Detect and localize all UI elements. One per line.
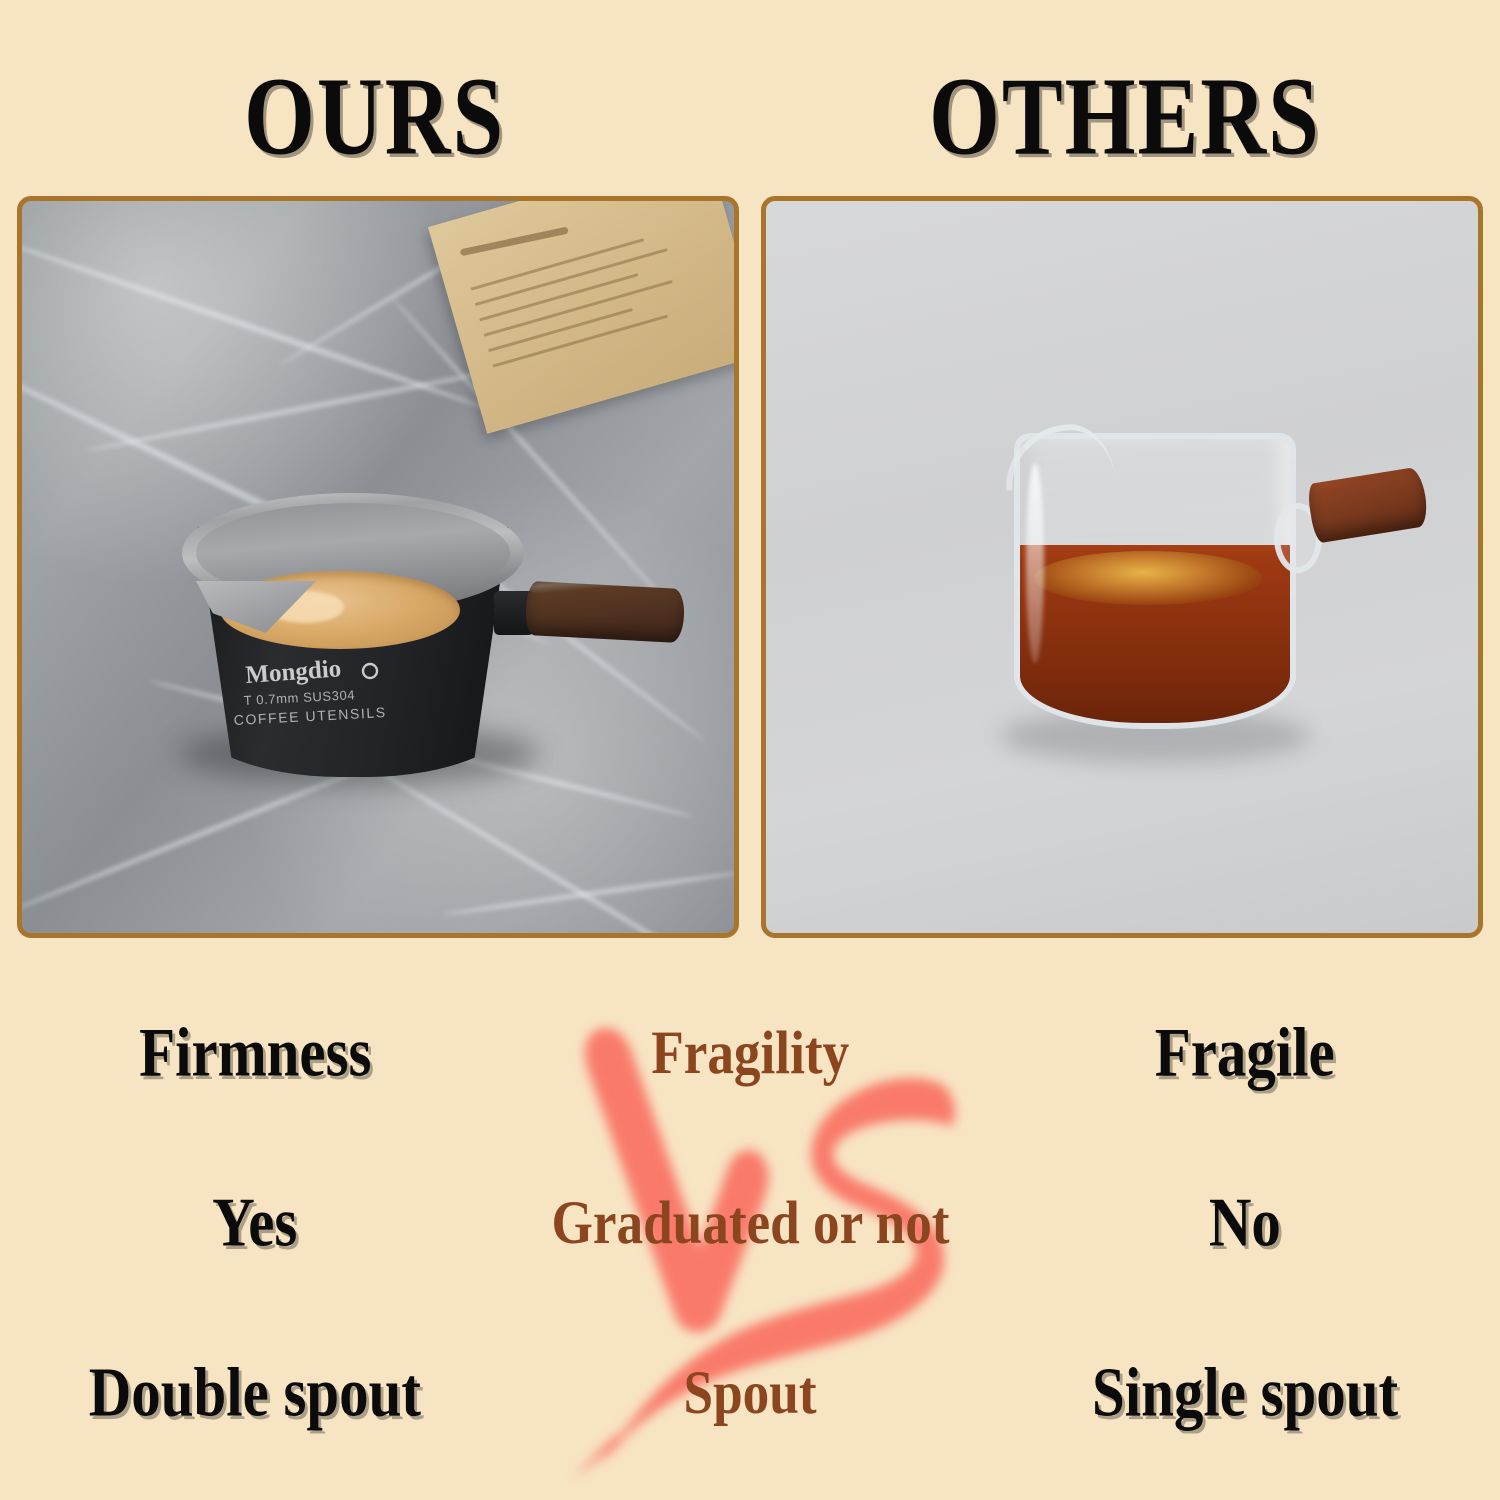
comparison-cell-ours: Double spout: [0, 1350, 510, 1436]
row-1-others-value: Fragile: [1155, 1018, 1335, 1087]
glass-highlight: [1026, 463, 1044, 663]
marble-vein: [443, 870, 739, 917]
comparison-cell-ours: Firmness: [0, 1010, 510, 1096]
row-3-others-value: Single spout: [1092, 1358, 1398, 1427]
row-2-ours-value: Yes: [212, 1188, 297, 1257]
comparison-cell-others: Single spout: [990, 1350, 1500, 1436]
kraft-card-script: [460, 227, 569, 257]
walnut-handle: [525, 581, 686, 643]
steel-espresso-cup: Mongdio T 0.7mm SUS304 COFFEE UTENSILS: [174, 473, 694, 803]
comparison-cell-attribute: Spout: [510, 1350, 990, 1436]
heading-col-ours: OURS: [0, 62, 750, 172]
marble-vein: [85, 366, 508, 453]
comparison-table: Firmness Fragility Fragile Yes Graduated…: [0, 990, 1500, 1500]
comparison-cell-attribute: Graduated or not: [510, 1180, 990, 1266]
heading-ours: OURS: [244, 62, 505, 173]
brand-name-text: Mongdio: [245, 655, 343, 689]
row-2-attribute-label: Graduated or not: [551, 1192, 949, 1254]
comparison-cell-ours: Yes: [0, 1180, 510, 1266]
row-3-ours-value: Double spout: [89, 1358, 421, 1427]
comparison-cell-others: Fragile: [990, 1010, 1500, 1096]
row-2-others-value: No: [1209, 1188, 1281, 1257]
row-3-attribute-label: Spout: [683, 1362, 816, 1424]
brand-mark-icon: [363, 664, 377, 678]
headings-row: OURS OTHERS: [0, 62, 1500, 172]
comparison-row: Double spout Spout Single spout: [0, 1350, 1500, 1436]
product-photo-ours: Mongdio T 0.7mm SUS304 COFFEE UTENSILS: [17, 196, 739, 938]
product-photo-others: [761, 196, 1483, 938]
row-1-ours-value: Firmness: [139, 1018, 371, 1087]
comparison-cell-others: No: [990, 1180, 1500, 1266]
wooden-handle: [1306, 466, 1430, 543]
kraft-paper-card: [428, 196, 739, 434]
heading-col-others: OTHERS: [750, 62, 1500, 172]
comparison-row: Yes Graduated or not No: [0, 1180, 1500, 1266]
glass-espresso-cup: [974, 417, 1414, 807]
product-image-panels: Mongdio T 0.7mm SUS304 COFFEE UTENSILS: [17, 196, 1483, 938]
heading-others: OTHERS: [929, 62, 1321, 173]
coffee-surface: [1034, 551, 1262, 605]
cup-branding: Mongdio T 0.7mm SUS304 COFFEE UTENSILS: [218, 655, 488, 741]
glass-spout: [1002, 421, 1116, 491]
brand-spec-text: T 0.7mm SUS304: [243, 687, 355, 708]
comparison-infographic: OURS OTHERS: [0, 0, 1500, 1500]
row-1-attribute-label: Fragility: [651, 1022, 849, 1084]
brand-category-text: COFFEE UTENSILS: [233, 704, 387, 728]
comparison-row: Firmness Fragility Fragile: [0, 1010, 1500, 1096]
comparison-cell-attribute: Fragility: [510, 1010, 990, 1096]
